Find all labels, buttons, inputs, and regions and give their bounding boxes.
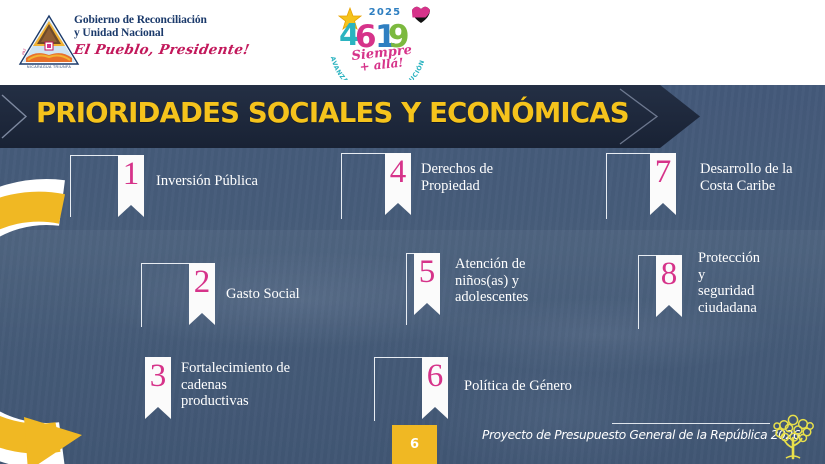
priority-number-5: 5: [414, 256, 440, 289]
priority-label-3: Fortalecimiento de cadenas productivas: [181, 360, 336, 410]
priority-number-1: 1: [118, 158, 144, 191]
priority-number-3: 3: [145, 360, 171, 393]
priority-label-8: Protección y seguridad ciudadana: [698, 250, 823, 316]
page-title: PRIORIDADES SOCIALES Y ECONÓMICAS: [36, 97, 629, 129]
slide-body: PRIORIDADES SOCIALES Y ECONÓMICAS 1 Inve…: [0, 85, 825, 464]
footer-divider: [612, 423, 770, 424]
svg-text:2025: 2025: [369, 7, 402, 18]
ribbon-shape-4: 4: [385, 153, 411, 215]
anniversary-logo-4619: AVANZANDO EN LA REVOLUCIÓN 2025 4 6 1 9 …: [322, 2, 434, 80]
priority-number-7: 7: [650, 156, 676, 189]
priority-label-4: Derechos de Propiedad: [421, 161, 581, 194]
priority-number-8: 8: [656, 258, 682, 291]
government-name: Gobierno de Reconciliación y Unidad Naci…: [74, 14, 304, 58]
ribbon-shape-3: 3: [145, 357, 171, 419]
ribbon-shape-6: 6: [422, 357, 448, 419]
page-number: 6: [410, 437, 419, 452]
ribbon-shape-1: 1: [118, 155, 144, 217]
ribbon-shape-5: 5: [414, 253, 440, 315]
priority-label-6: Política de Género: [464, 378, 644, 395]
ribbon-shape-2: 2: [189, 263, 215, 325]
gov-slogan: El Pueblo, Presidente!: [73, 42, 306, 58]
priority-number-6: 6: [422, 360, 448, 393]
priority-label-2: Gasto Social: [226, 286, 386, 303]
priority-number-2: 2: [189, 266, 215, 299]
svg-text:NICARAGUA TRIUNFA: NICARAGUA TRIUNFA: [27, 65, 71, 69]
ribbon-shape-7: 7: [650, 153, 676, 215]
priority-number-4: 4: [385, 156, 411, 189]
presentation-slide: NICARAGUA TRIUNFA PAZ Gobierno de Reconc…: [0, 0, 825, 464]
gov-line-2: y Unidad Nacional: [74, 27, 304, 40]
priority-label-5: Atención de niños(as) y adolescentes: [455, 256, 605, 306]
gov-line-1: Gobierno de Reconciliación: [74, 14, 304, 27]
ribbon-shape-8: 8: [656, 255, 682, 317]
priority-label-7: Desarrollo de la Costa Caribe: [700, 161, 825, 194]
footer-title: Proyecto de Presupuesto General de la Re…: [482, 428, 800, 442]
priority-label-1: Inversión Pública: [156, 173, 331, 190]
page-number-badge: 6: [392, 425, 437, 464]
nicaragua-national-emblem-icon: NICARAGUA TRIUNFA PAZ: [16, 12, 82, 70]
slide-header: NICARAGUA TRIUNFA PAZ Gobierno de Reconc…: [0, 0, 825, 85]
arbol-de-la-vida-icon: [772, 412, 816, 460]
